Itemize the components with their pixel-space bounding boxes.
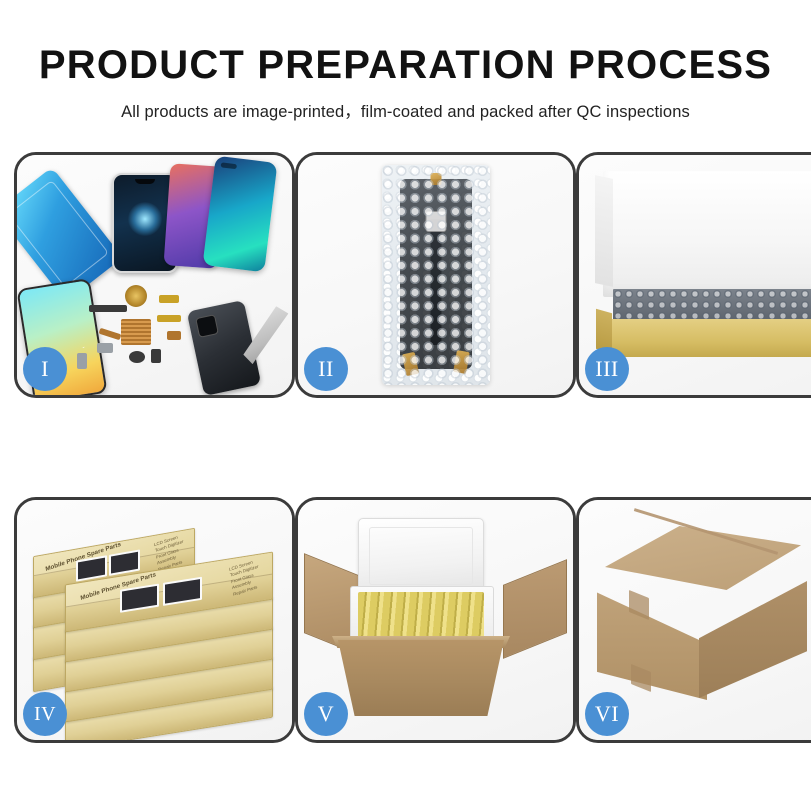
step-card-2[interactable]: II bbox=[295, 152, 576, 398]
antenna-flex-part bbox=[157, 315, 181, 322]
bubble-wrapped-screen-image bbox=[382, 165, 490, 385]
carton-top-face bbox=[605, 526, 801, 590]
earpiece-mesh-part bbox=[89, 305, 127, 312]
step-badge-4: IV bbox=[23, 692, 67, 736]
mailer-box-lid bbox=[603, 171, 811, 297]
box-artwork-screen-2 bbox=[109, 550, 140, 576]
mailer-box-base bbox=[605, 319, 811, 357]
stacked-boxes-image: Mobile Phone Spare Parts LCD Screen Touc… bbox=[29, 516, 279, 730]
metal-bracket-part bbox=[97, 343, 113, 353]
connector-pad bbox=[425, 211, 446, 232]
bubble-wrapped-contents bbox=[613, 289, 811, 321]
charging-port-part bbox=[167, 331, 181, 340]
sim-tray-part bbox=[77, 353, 87, 369]
step-card-5[interactable]: V bbox=[295, 497, 576, 743]
phone-teal-gradient bbox=[203, 156, 278, 273]
flex-ribbon-part bbox=[99, 328, 122, 341]
box-artwork-screen-1 bbox=[120, 584, 159, 613]
step-card-3[interactable]: III bbox=[576, 152, 811, 398]
step-card-4[interactable]: Mobile Phone Spare Parts LCD Screen Touc… bbox=[14, 497, 295, 743]
copper-mesh-part bbox=[121, 319, 151, 345]
step-card-6[interactable]: VI bbox=[576, 497, 811, 743]
gold-contact-top bbox=[430, 173, 441, 185]
camera-module-part bbox=[129, 351, 145, 363]
speaker-coil-part bbox=[125, 285, 147, 307]
box-artwork-screen-2 bbox=[163, 577, 202, 606]
carton-front-panel bbox=[338, 640, 504, 716]
process-steps-grid: I II I bbox=[14, 152, 797, 743]
step-badge-2: II bbox=[304, 347, 348, 391]
flex-cable bbox=[430, 219, 441, 345]
foam-box-lid bbox=[358, 518, 484, 594]
page-title: PRODUCT PREPARATION PROCESS bbox=[0, 0, 811, 87]
step-card-1[interactable]: I bbox=[14, 152, 295, 398]
step-badge-5: V bbox=[304, 692, 348, 736]
carton-flap-right bbox=[503, 559, 567, 659]
gold-connector-part bbox=[159, 295, 179, 303]
packed-yellow-boxes bbox=[358, 592, 484, 640]
product-preparation-infographic: PRODUCT PREPARATION PROCESS All products… bbox=[0, 0, 811, 811]
step-badge-6: VI bbox=[585, 692, 629, 736]
vibration-motor-part bbox=[151, 349, 161, 363]
carton-left-face bbox=[597, 572, 707, 700]
step-badge-1: I bbox=[23, 347, 67, 391]
header: PRODUCT PREPARATION PROCESS All products… bbox=[0, 0, 811, 122]
step-badge-3: III bbox=[585, 347, 629, 391]
page-subtitle: All products are image-printed，film-coat… bbox=[0, 87, 811, 122]
